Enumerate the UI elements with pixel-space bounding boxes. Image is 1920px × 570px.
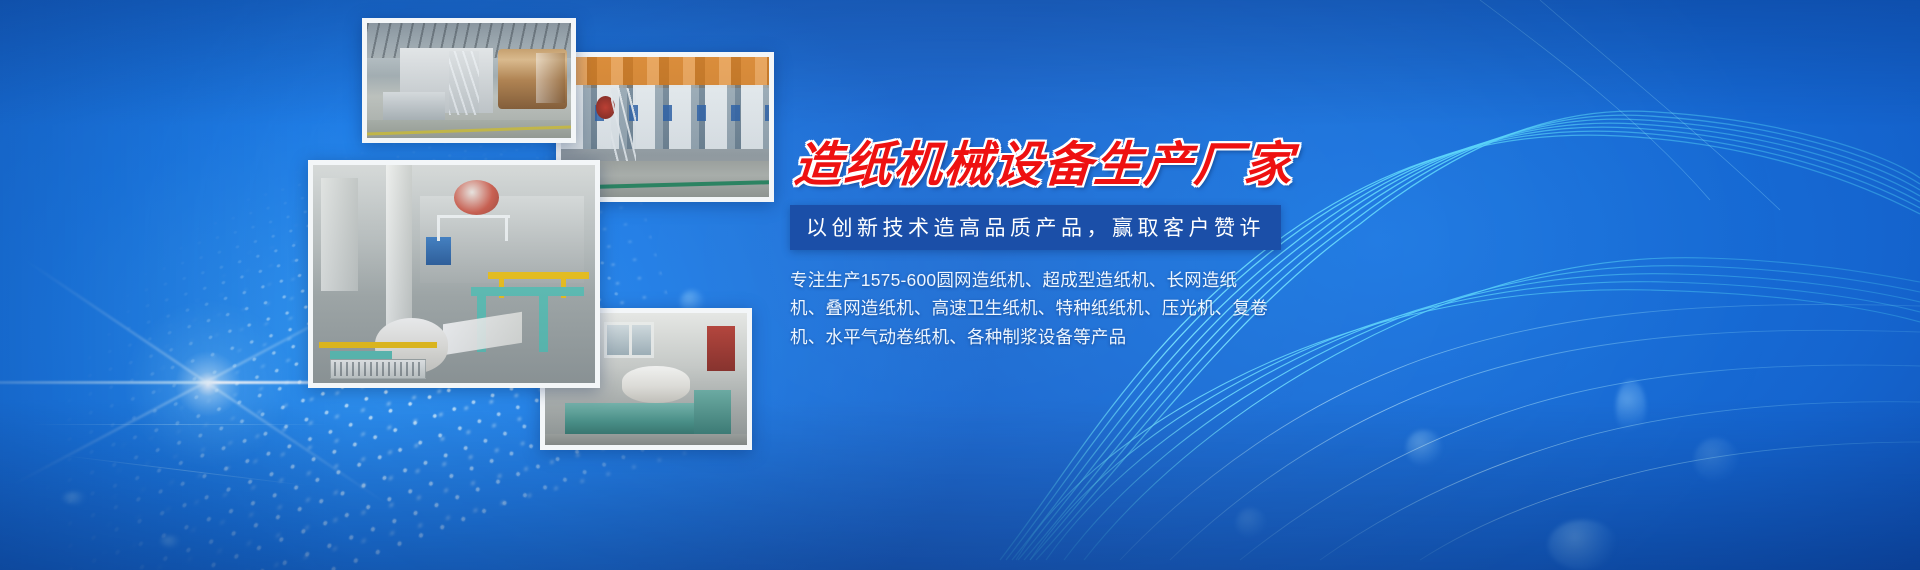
banner-description: 专注生产1575-600圆网造纸机、超成型造纸机、长网造纸机、叠网造纸机、高速卫… xyxy=(790,266,1270,351)
banner-text-block: 造纸机械设备生产厂家 以创新技术造高品质产品，赢取客户赞许 专注生产1575-6… xyxy=(790,140,1290,351)
banner-headline: 造纸机械设备生产厂家 xyxy=(788,140,1292,191)
hero-banner: 造纸机械设备生产厂家 以创新技术造高品质产品，赢取客户赞许 专注生产1575-6… xyxy=(0,0,1920,570)
photo-paper-mill-workshop-overview xyxy=(362,18,576,143)
photo-large-paper-machine-main xyxy=(308,160,600,388)
banner-subtitle-bar: 以创新技术造高品质产品，赢取客户赞许 xyxy=(790,205,1281,250)
banner-subtitle: 以创新技术造高品质产品，赢取客户赞许 xyxy=(806,217,1265,240)
